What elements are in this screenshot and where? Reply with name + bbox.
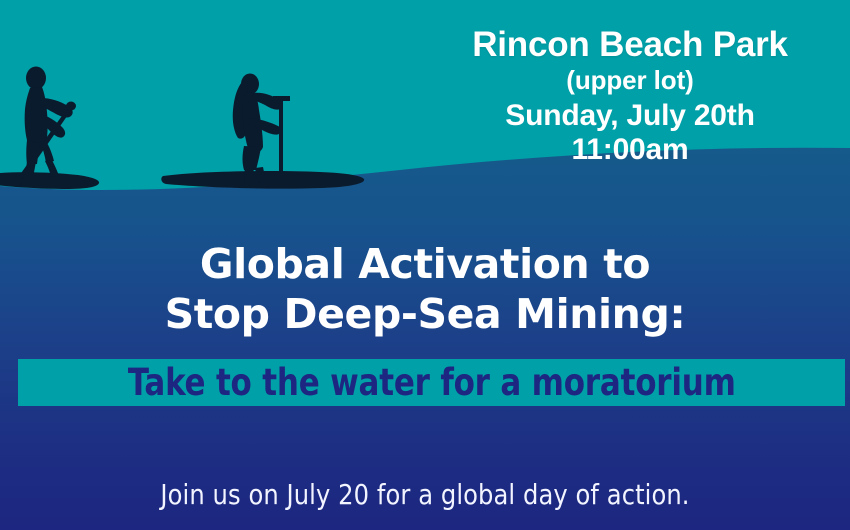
headline-line-1: Global Activation to (0, 240, 850, 290)
cta-banner-text: Take to the water for a moratorium (128, 361, 736, 404)
event-date: Sunday, July 20th (410, 100, 850, 132)
paddler-head-left (26, 67, 46, 90)
footer-call-to-action: Join us on July 20 for a global day of a… (17, 478, 833, 511)
headline-line-2: Stop Deep-Sea Mining: (0, 290, 850, 340)
cta-banner: Take to the water for a moratorium (18, 359, 845, 406)
paddler-leg-back-right (244, 168, 254, 183)
headline-block: Global Activation to Stop Deep-Sea Minin… (0, 240, 850, 339)
poster-canvas: Rincon Beach Park (upper lot) Sunday, Ju… (0, 0, 850, 530)
paddle-grip-left (66, 102, 76, 111)
paddle-blade-right (275, 176, 287, 188)
event-details-block: Rincon Beach Park (upper lot) Sunday, Ju… (410, 26, 850, 166)
paddle-shaft-right (279, 98, 283, 180)
paddle-grip-right (273, 96, 290, 101)
event-venue-name: Rincon Beach Park (410, 26, 850, 63)
event-time: 11:00am (410, 134, 850, 166)
event-sublocation: (upper lot) (410, 67, 850, 95)
